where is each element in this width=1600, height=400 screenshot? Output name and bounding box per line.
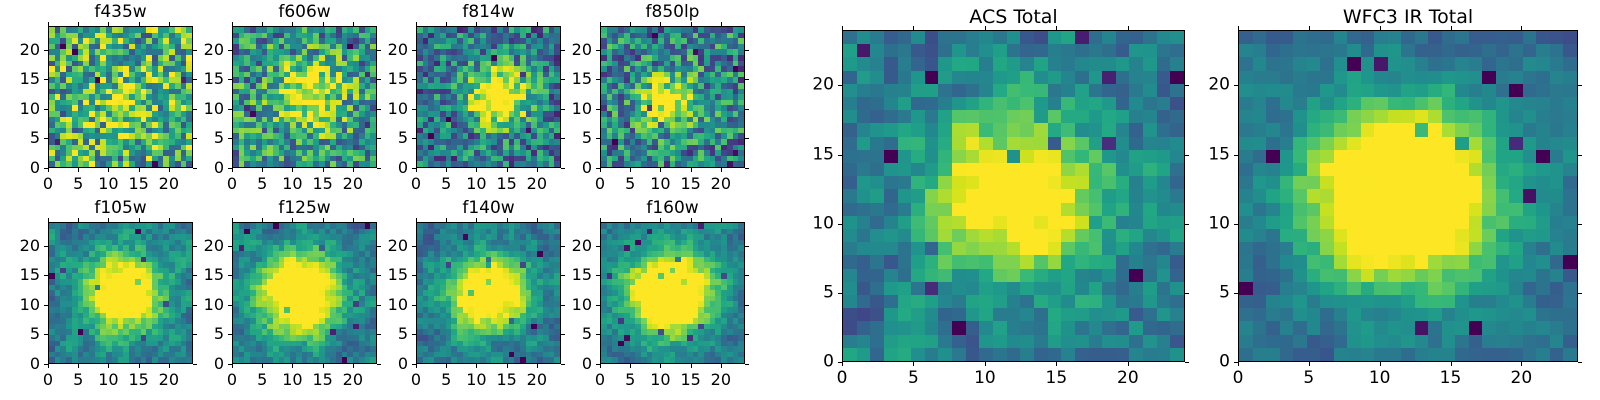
panel-title-f160w: f160w	[600, 200, 745, 217]
pixel-grid-f160w	[601, 223, 744, 363]
pixel-grid-f850lp	[601, 27, 744, 167]
image-axes-f850lp	[600, 26, 745, 168]
y-tick-label: 15	[356, 267, 408, 283]
x-tick-top	[292, 22, 293, 26]
y-tick-label: 20	[172, 238, 224, 254]
y-tick	[596, 138, 600, 139]
x-tick-top	[721, 22, 722, 26]
y-tick	[228, 364, 232, 365]
panel-f160w: f160w0510152005101520	[540, 198, 745, 390]
x-tick	[169, 364, 170, 368]
y-tick	[228, 246, 232, 247]
x-tick-top	[78, 218, 79, 222]
x-tick	[476, 364, 477, 368]
x-tick	[721, 168, 722, 172]
x-tick	[660, 168, 661, 172]
panel-f606w: f606w0510152005101520	[172, 2, 377, 194]
y-tick-label: 10	[0, 101, 40, 117]
y-tick-right	[745, 138, 749, 139]
y-tick	[412, 50, 416, 51]
y-tick-label: 0	[356, 160, 408, 176]
y-tick-label: 0	[0, 356, 40, 372]
x-tick-label: 5	[441, 176, 451, 192]
pixel-grid-f105w	[49, 223, 192, 363]
y-tick-label: 10	[356, 297, 408, 313]
y-tick-label: 10	[0, 297, 40, 313]
x-tick-label: 10	[650, 176, 670, 192]
y-tick	[412, 275, 416, 276]
x-tick	[323, 364, 324, 368]
y-tick	[44, 364, 48, 365]
y-tick	[44, 246, 48, 247]
y-tick	[228, 168, 232, 169]
x-tick-top	[323, 22, 324, 26]
x-tick-top	[660, 22, 661, 26]
y-tick	[44, 109, 48, 110]
x-tick-label: 0	[595, 176, 605, 192]
x-tick	[232, 168, 233, 172]
x-tick	[630, 168, 631, 172]
panel-f850lp: f850lp0510152005101520	[540, 2, 745, 194]
x-tick-label: 0	[227, 372, 237, 388]
y-tick	[228, 109, 232, 110]
image-axes-f160w	[600, 222, 745, 364]
x-tick	[537, 364, 538, 368]
x-tick	[507, 364, 508, 368]
y-tick	[412, 246, 416, 247]
x-tick	[48, 364, 49, 368]
x-tick	[139, 364, 140, 368]
x-tick-top	[232, 22, 233, 26]
y-tick-label: 15	[540, 71, 592, 87]
y-tick	[44, 305, 48, 306]
x-tick-label: 15	[680, 176, 700, 192]
panel-f435w: f435w0510152005101520	[0, 2, 193, 194]
y-tick-right	[745, 50, 749, 51]
y-tick-label: 5	[0, 130, 40, 146]
x-tick-label: 0	[43, 372, 53, 388]
y-tick	[228, 79, 232, 80]
y-tick	[412, 109, 416, 110]
x-tick-label: 5	[625, 176, 635, 192]
x-tick-label: 15	[496, 176, 516, 192]
y-tick-label: 5	[172, 326, 224, 342]
x-tick-top	[169, 218, 170, 222]
y-tick	[44, 50, 48, 51]
y-tick	[412, 305, 416, 306]
y-tick-label: 0	[172, 356, 224, 372]
y-tick-label: 20	[540, 42, 592, 58]
x-tick-top	[169, 22, 170, 26]
y-tick-label: 5	[172, 130, 224, 146]
x-tick	[507, 168, 508, 172]
x-tick	[292, 168, 293, 172]
x-tick	[262, 168, 263, 172]
y-tick	[44, 275, 48, 276]
x-tick	[691, 168, 692, 172]
x-tick	[169, 168, 170, 172]
x-tick	[323, 168, 324, 172]
y-tick	[596, 109, 600, 110]
x-tick-top	[446, 218, 447, 222]
pixel-grid-f814w	[417, 27, 560, 167]
x-tick-label: 0	[411, 176, 421, 192]
y-tick-label: 10	[356, 101, 408, 117]
y-tick-label: 15	[356, 71, 408, 87]
x-tick-label: 0	[43, 176, 53, 192]
x-tick-top	[537, 22, 538, 26]
y-tick	[596, 79, 600, 80]
y-tick-label: 20	[0, 42, 40, 58]
y-tick	[596, 50, 600, 51]
pixel	[738, 161, 744, 167]
x-tick-top	[292, 218, 293, 222]
y-tick-label: 10	[172, 101, 224, 117]
y-tick-label: 0	[0, 160, 40, 176]
x-tick-top	[691, 22, 692, 26]
x-tick	[537, 168, 538, 172]
x-tick-top	[416, 218, 417, 222]
y-tick-right	[745, 109, 749, 110]
x-tick-label: 15	[312, 372, 332, 388]
x-tick-label: 10	[282, 372, 302, 388]
y-tick-label: 0	[172, 160, 224, 176]
y-tick-label: 5	[356, 326, 408, 342]
y-tick	[412, 168, 416, 169]
x-tick	[78, 168, 79, 172]
x-tick-top	[476, 22, 477, 26]
pixel-grid-f125w	[233, 223, 376, 363]
x-tick-top	[353, 22, 354, 26]
y-tick	[228, 275, 232, 276]
x-tick-label: 15	[128, 176, 148, 192]
pixel-grid-f140w	[417, 223, 560, 363]
x-tick-label: 5	[441, 372, 451, 388]
y-tick	[412, 364, 416, 365]
x-tick	[108, 168, 109, 172]
x-tick-top	[139, 22, 140, 26]
y-tick-label: 15	[0, 267, 40, 283]
x-tick-top	[353, 218, 354, 222]
x-tick-label: 5	[257, 372, 267, 388]
y-tick-label: 15	[172, 71, 224, 87]
x-tick	[416, 168, 417, 172]
y-tick-label: 5	[0, 326, 40, 342]
y-tick	[228, 138, 232, 139]
y-tick	[228, 50, 232, 51]
y-tick	[44, 79, 48, 80]
y-tick	[228, 334, 232, 335]
x-tick-label: 15	[312, 176, 332, 192]
panel-f814w: f814w0510152005101520	[356, 2, 561, 194]
pixel-grid-f435w	[49, 27, 192, 167]
x-tick-label: 5	[257, 176, 267, 192]
x-tick-top	[262, 218, 263, 222]
x-tick	[446, 364, 447, 368]
x-tick-label: 20	[711, 176, 731, 192]
x-tick-label: 15	[128, 372, 148, 388]
y-tick-label: 20	[0, 238, 40, 254]
y-tick	[412, 334, 416, 335]
x-tick-label: 5	[73, 176, 83, 192]
y-tick	[228, 305, 232, 306]
y-tick-label: 10	[540, 101, 592, 117]
panel-title-f850lp: f850lp	[600, 4, 745, 21]
y-tick	[596, 168, 600, 169]
x-tick-label: 5	[73, 372, 83, 388]
x-tick-top	[48, 22, 49, 26]
x-tick-label: 10	[466, 372, 486, 388]
y-tick	[44, 334, 48, 335]
panel-f125w: f125w0510152005101520	[172, 198, 377, 390]
y-tick-label: 20	[356, 238, 408, 254]
x-tick-label: 0	[227, 176, 237, 192]
y-tick-label: 0	[540, 160, 592, 176]
y-tick-label: 20	[172, 42, 224, 58]
x-tick	[353, 168, 354, 172]
x-tick-top	[630, 22, 631, 26]
x-tick-top	[232, 218, 233, 222]
x-tick-top	[108, 22, 109, 26]
x-tick	[108, 364, 109, 368]
x-tick-label: 0	[411, 372, 421, 388]
x-tick-top	[476, 218, 477, 222]
x-tick	[292, 364, 293, 368]
y-tick	[44, 138, 48, 139]
panel-f105w: f105w0510152005101520	[0, 198, 193, 390]
x-tick-top	[262, 22, 263, 26]
x-tick-top	[600, 22, 601, 26]
x-tick	[600, 168, 601, 172]
x-tick-label: 10	[466, 176, 486, 192]
x-tick	[232, 364, 233, 368]
y-tick-label: 15	[0, 71, 40, 87]
x-tick-top	[139, 218, 140, 222]
x-tick-top	[78, 22, 79, 26]
x-tick	[353, 364, 354, 368]
x-tick-top	[48, 218, 49, 222]
x-tick	[262, 364, 263, 368]
x-tick	[139, 168, 140, 172]
y-tick-right	[745, 79, 749, 80]
y-tick-right	[745, 168, 749, 169]
x-tick-top	[416, 22, 417, 26]
y-tick	[412, 79, 416, 80]
x-tick-top	[537, 218, 538, 222]
y-tick-label: 15	[172, 267, 224, 283]
x-tick-label: 10	[98, 372, 118, 388]
x-tick-top	[507, 22, 508, 26]
x-tick	[78, 364, 79, 368]
y-tick-label: 10	[172, 297, 224, 313]
x-tick-top	[446, 22, 447, 26]
x-tick-top	[323, 218, 324, 222]
x-tick	[416, 364, 417, 368]
x-tick-top	[108, 218, 109, 222]
y-tick-label: 20	[356, 42, 408, 58]
y-tick	[412, 138, 416, 139]
x-tick-top	[507, 218, 508, 222]
x-tick-label: 15	[496, 372, 516, 388]
x-tick	[446, 168, 447, 172]
panel-f140w: f140w0510152005101520	[356, 198, 561, 390]
x-tick	[48, 168, 49, 172]
y-tick-label: 0	[356, 356, 408, 372]
figure-canvas: f435w0510152005101520f606w05101520051015…	[0, 0, 1600, 400]
x-tick-label: 10	[282, 176, 302, 192]
pixel-grid-f606w	[233, 27, 376, 167]
y-tick-label: 5	[356, 130, 408, 146]
x-tick-label: 10	[98, 176, 118, 192]
x-tick	[476, 168, 477, 172]
y-tick	[44, 168, 48, 169]
y-tick-label: 5	[540, 130, 592, 146]
